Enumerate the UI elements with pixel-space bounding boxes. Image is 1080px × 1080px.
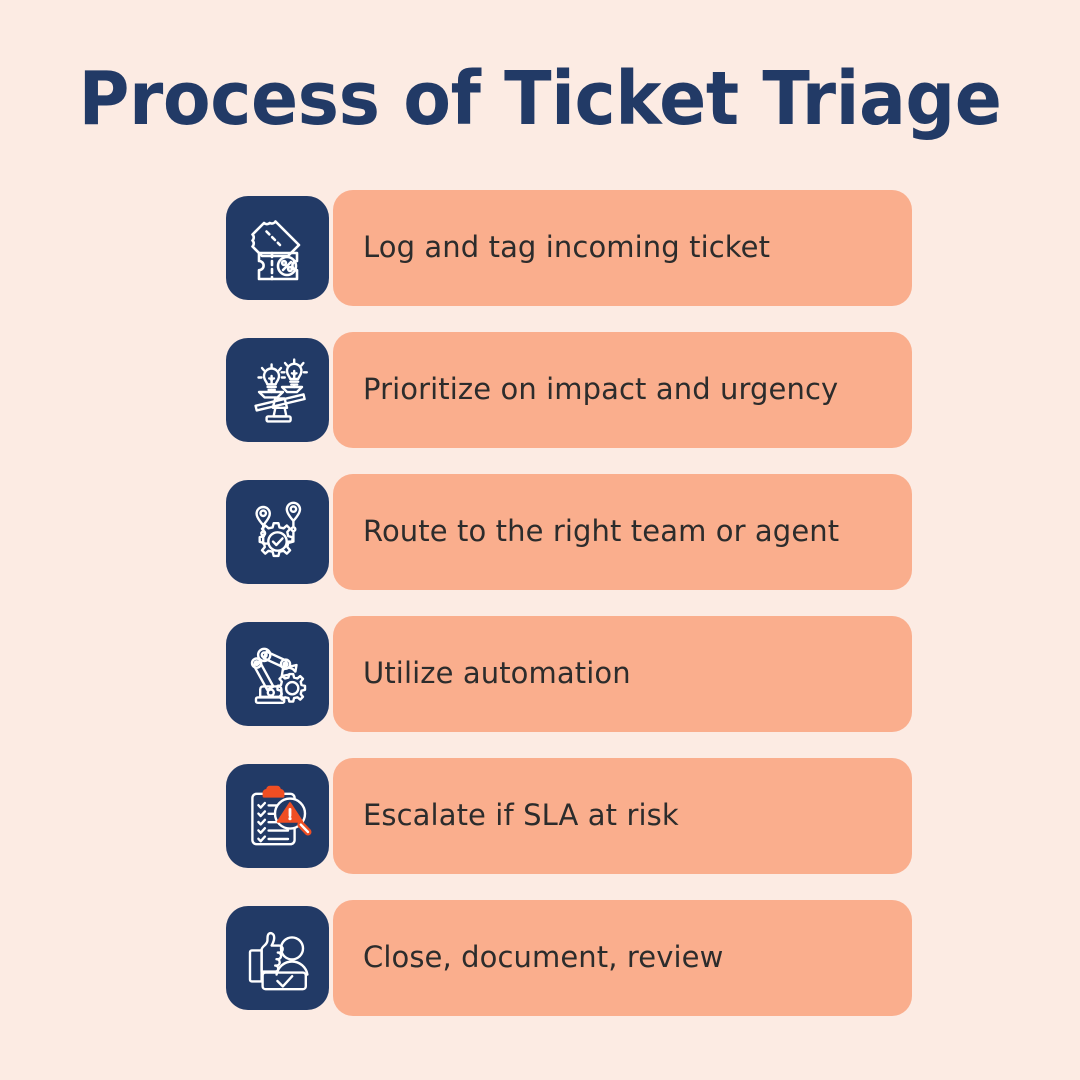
- step-label: Route to the right team or agent: [363, 515, 839, 548]
- thumbs-up-person-check-icon-tile: [226, 906, 329, 1010]
- ticket-tag-icon: [242, 212, 314, 284]
- clipboard-warning-magnifier-icon: [242, 780, 314, 852]
- balance-scale-lightbulbs-icon-tile: [226, 338, 329, 442]
- list-item: Close, document, review: [0, 900, 1080, 1042]
- robotic-arm-gear-icon: [242, 638, 314, 710]
- list-item: Escalate if SLA at risk: [0, 758, 1080, 900]
- step-label: Escalate if SLA at risk: [363, 799, 679, 832]
- list-item: Utilize automation: [0, 616, 1080, 758]
- list-item: Log and tag incoming ticket: [0, 190, 1080, 332]
- gear-check-route-pins-icon-tile: [226, 480, 329, 584]
- list-item: Route to the right team or agent: [0, 474, 1080, 616]
- step-label: Prioritize on impact and urgency: [363, 373, 838, 406]
- step-bar[interactable]: Log and tag incoming ticket: [333, 190, 912, 306]
- infographic-canvas: Process of Ticket Triage: [0, 0, 1080, 1080]
- step-label: Log and tag incoming ticket: [363, 231, 770, 264]
- robotic-arm-gear-icon-tile: [226, 622, 329, 726]
- step-bar[interactable]: Utilize automation: [333, 616, 912, 732]
- step-bar[interactable]: Close, document, review: [333, 900, 912, 1016]
- step-bar[interactable]: Prioritize on impact and urgency: [333, 332, 912, 448]
- step-label: Close, document, review: [363, 941, 723, 974]
- step-bar[interactable]: Escalate if SLA at risk: [333, 758, 912, 874]
- ticket-tag-icon-tile: [226, 196, 329, 300]
- thumbs-up-person-check-icon: [242, 922, 314, 994]
- step-bar[interactable]: Route to the right team or agent: [333, 474, 912, 590]
- page-title: Process of Ticket Triage: [32, 62, 1047, 136]
- clipboard-warning-magnifier-icon-tile: [226, 764, 329, 868]
- gear-check-route-pins-icon: [242, 496, 314, 568]
- steps-list: Log and tag incoming ticket: [0, 190, 1080, 1042]
- step-label: Utilize automation: [363, 657, 631, 690]
- list-item: Prioritize on impact and urgency: [0, 332, 1080, 474]
- balance-scale-lightbulbs-icon: [242, 354, 314, 426]
